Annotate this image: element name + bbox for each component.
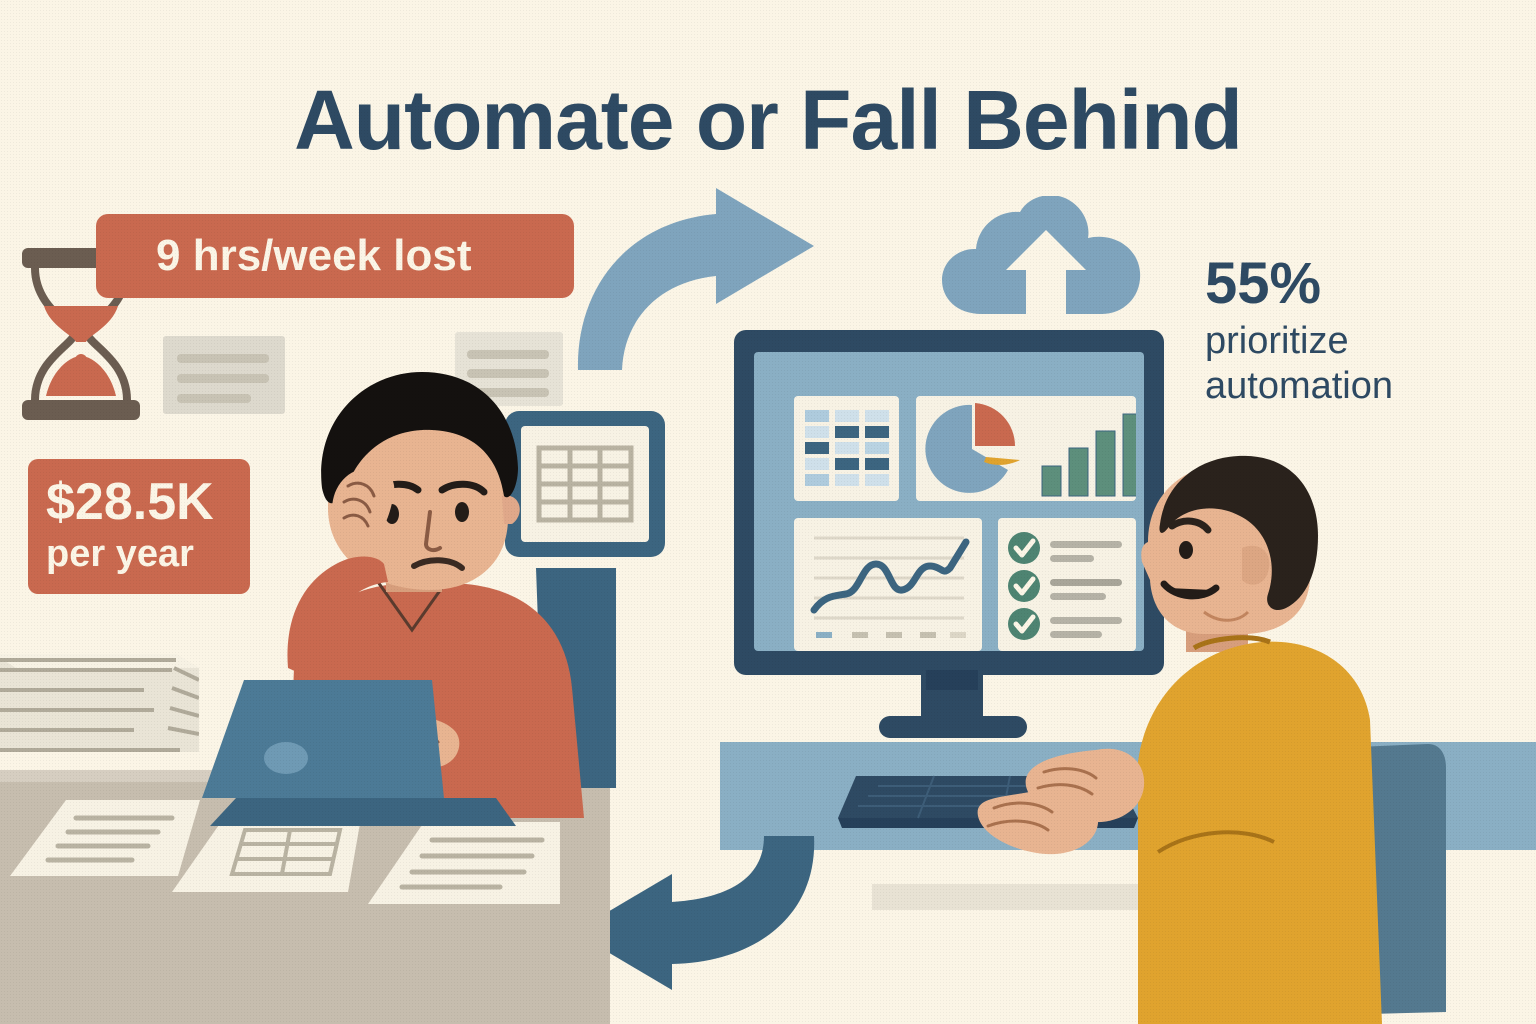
paper-stack bbox=[0, 640, 199, 790]
desktop-monitor bbox=[734, 330, 1164, 675]
monitor-base bbox=[879, 716, 1027, 738]
dashboard-pie-bar-panel[interactable] bbox=[916, 396, 1136, 501]
badge-cost-amount: $28.5K bbox=[46, 474, 250, 530]
infographic-canvas: Automate or Fall Behind bbox=[0, 0, 1536, 1024]
dashboard-trend-panel[interactable] bbox=[794, 518, 982, 651]
stat-label-line2: automation bbox=[1205, 364, 1525, 409]
pie-chart bbox=[925, 403, 1020, 493]
check-circle-icon bbox=[1008, 608, 1040, 640]
checklist-line bbox=[1050, 541, 1122, 548]
checklist-line bbox=[1050, 617, 1122, 624]
stat-label-line1: prioritize bbox=[1205, 319, 1525, 364]
badge-cost-period: per year bbox=[46, 530, 250, 578]
happy-worker bbox=[1138, 452, 1536, 1024]
checklist-line bbox=[1050, 555, 1094, 562]
badge-annual-cost: $28.5K per year bbox=[28, 459, 250, 594]
checklist-line bbox=[1050, 631, 1102, 638]
check-circle-icon bbox=[1008, 570, 1040, 602]
bar-chart bbox=[1042, 414, 1136, 496]
dashboard-table-panel[interactable] bbox=[794, 396, 899, 501]
checklist-line bbox=[1050, 579, 1122, 586]
note-line bbox=[177, 354, 269, 363]
checklist-line bbox=[1050, 593, 1106, 600]
axis-ticks bbox=[816, 632, 966, 638]
check-circle-icon bbox=[1008, 532, 1040, 564]
right-shelf bbox=[872, 884, 1158, 910]
stat-percent: 55% bbox=[1205, 255, 1525, 313]
laptop bbox=[196, 672, 516, 832]
typing-hands bbox=[920, 742, 1150, 862]
dashboard-checklist-panel[interactable] bbox=[998, 518, 1136, 651]
badge-hours-lost: 9 hrs/week lost bbox=[96, 214, 574, 298]
stat-automation-priority: 55% prioritize automation bbox=[1205, 255, 1525, 409]
note-line bbox=[467, 350, 549, 359]
badge-hours-label: 9 hrs/week lost bbox=[156, 214, 574, 298]
page-title: Automate or Fall Behind bbox=[0, 72, 1536, 169]
monitor-neck-shade bbox=[926, 670, 978, 690]
cloud-upload-icon bbox=[938, 196, 1154, 316]
trend-line bbox=[814, 542, 966, 610]
monitor-screen bbox=[754, 352, 1144, 651]
